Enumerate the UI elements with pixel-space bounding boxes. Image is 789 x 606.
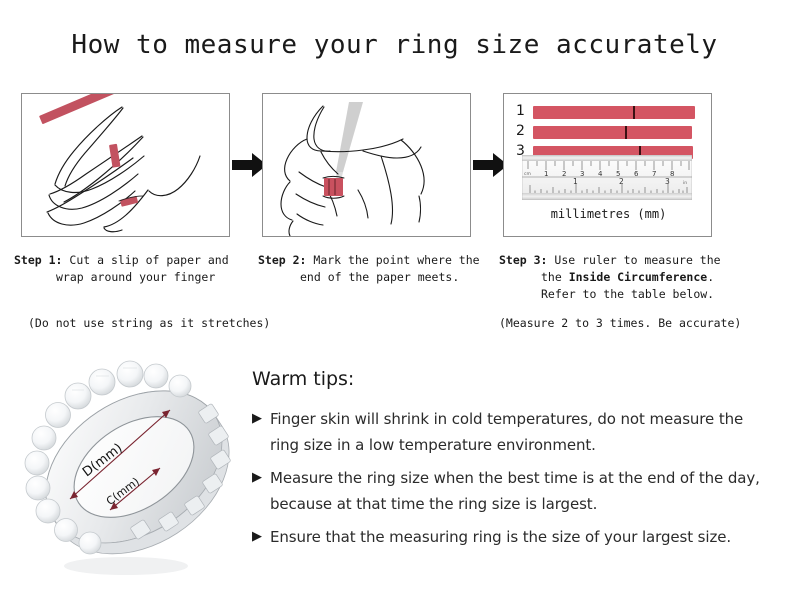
paper-strip-bar <box>533 126 692 139</box>
step-1-text-line1: Cut a slip of paper and <box>69 253 228 267</box>
svg-text:8: 8 <box>670 170 674 178</box>
step-1-illustration-panel <box>21 93 230 237</box>
step-3-label: Step 3: <box>499 253 547 267</box>
tip-text: Ensure that the measuring ring is the si… <box>270 524 772 550</box>
svg-text:in: in <box>683 180 687 186</box>
svg-text:6: 6 <box>634 170 639 178</box>
triangle-bullet-icon: ▶ <box>252 524 270 550</box>
strip-mark <box>633 106 635 119</box>
ruler-illustration: 12 34 56 78 cm <box>522 155 692 200</box>
svg-text:2: 2 <box>619 177 624 186</box>
strip-number: 2 <box>516 123 525 139</box>
step-3-note: (Measure 2 to 3 times. Be accurate) <box>499 316 741 330</box>
step-2-illustration-panel <box>262 93 471 237</box>
svg-text:7: 7 <box>652 170 656 178</box>
svg-text:2: 2 <box>562 170 566 178</box>
eternity-ring-photo-illustration <box>22 352 247 587</box>
step-2-caption: Step 2: Mark the point where the end of … <box>258 252 498 286</box>
step-3-text-line1: Use ruler to measure the <box>554 253 720 267</box>
tip-text: Finger skin will shrink in cold temperat… <box>270 406 772 458</box>
step-3-text-line3: Refer to the table below. <box>499 286 759 303</box>
hand-marking-paper-drawing <box>263 94 471 237</box>
step-3-text-line2-pre: the <box>541 270 569 284</box>
svg-text:3: 3 <box>580 170 584 178</box>
svg-text:1: 1 <box>544 170 548 178</box>
svg-text:4: 4 <box>598 170 603 178</box>
warm-tips-heading: Warm tips: <box>252 368 772 390</box>
strip-number: 1 <box>516 103 525 119</box>
hand-with-paper-strip-drawing <box>22 94 230 237</box>
tip-text: Measure the ring size when the best time… <box>270 465 772 517</box>
svg-text:cm: cm <box>524 172 531 177</box>
tip-list-item: ▶ Finger skin will shrink in cold temper… <box>252 406 772 458</box>
warm-tips-section: Warm tips: ▶ Finger skin will shrink in … <box>252 368 772 557</box>
paper-strip-bar <box>533 106 695 119</box>
ring-size-guide-page: How to measure your ring size accurately <box>0 0 789 606</box>
ruler-unit-caption: millimetres (mm) <box>504 207 712 221</box>
step-1-text-line2: wrap around your finger <box>14 269 254 286</box>
step-1-caption: Step 1: Cut a slip of paper and wrap aro… <box>14 252 254 286</box>
measurement-strip-row: 2 <box>516 126 701 139</box>
triangle-bullet-icon: ▶ <box>252 406 270 432</box>
triangle-bullet-icon: ▶ <box>252 465 270 491</box>
step-1-note: (Do not use string as it stretches) <box>28 316 270 330</box>
strip-mark <box>625 126 627 139</box>
tip-list-item: ▶ Ensure that the measuring ring is the … <box>252 524 772 550</box>
svg-text:3: 3 <box>665 177 670 186</box>
step-3-caption: Step 3: Use ruler to measure the the Ins… <box>499 252 759 303</box>
step-3-inside-circumference-emphasis: Inside Circumference <box>569 270 707 284</box>
tip-list-item: ▶ Measure the ring size when the best ti… <box>252 465 772 517</box>
step-2-label: Step 2: <box>258 253 306 267</box>
step-2-text-line1: Mark the point where the <box>313 253 479 267</box>
page-title: How to measure your ring size accurately <box>0 30 789 60</box>
step-1-label: Step 1: <box>14 253 62 267</box>
svg-text:1: 1 <box>573 177 578 186</box>
ring-diagram-figure: D(mm) C(mm) <box>22 352 247 587</box>
measurement-strip-row: 1 <box>516 106 701 119</box>
step-3-ruler-panel: 1 2 3 <box>503 93 712 237</box>
step-2-text-line2: end of the paper meets. <box>258 269 498 286</box>
step-3-text-line2-post: . <box>707 270 714 284</box>
